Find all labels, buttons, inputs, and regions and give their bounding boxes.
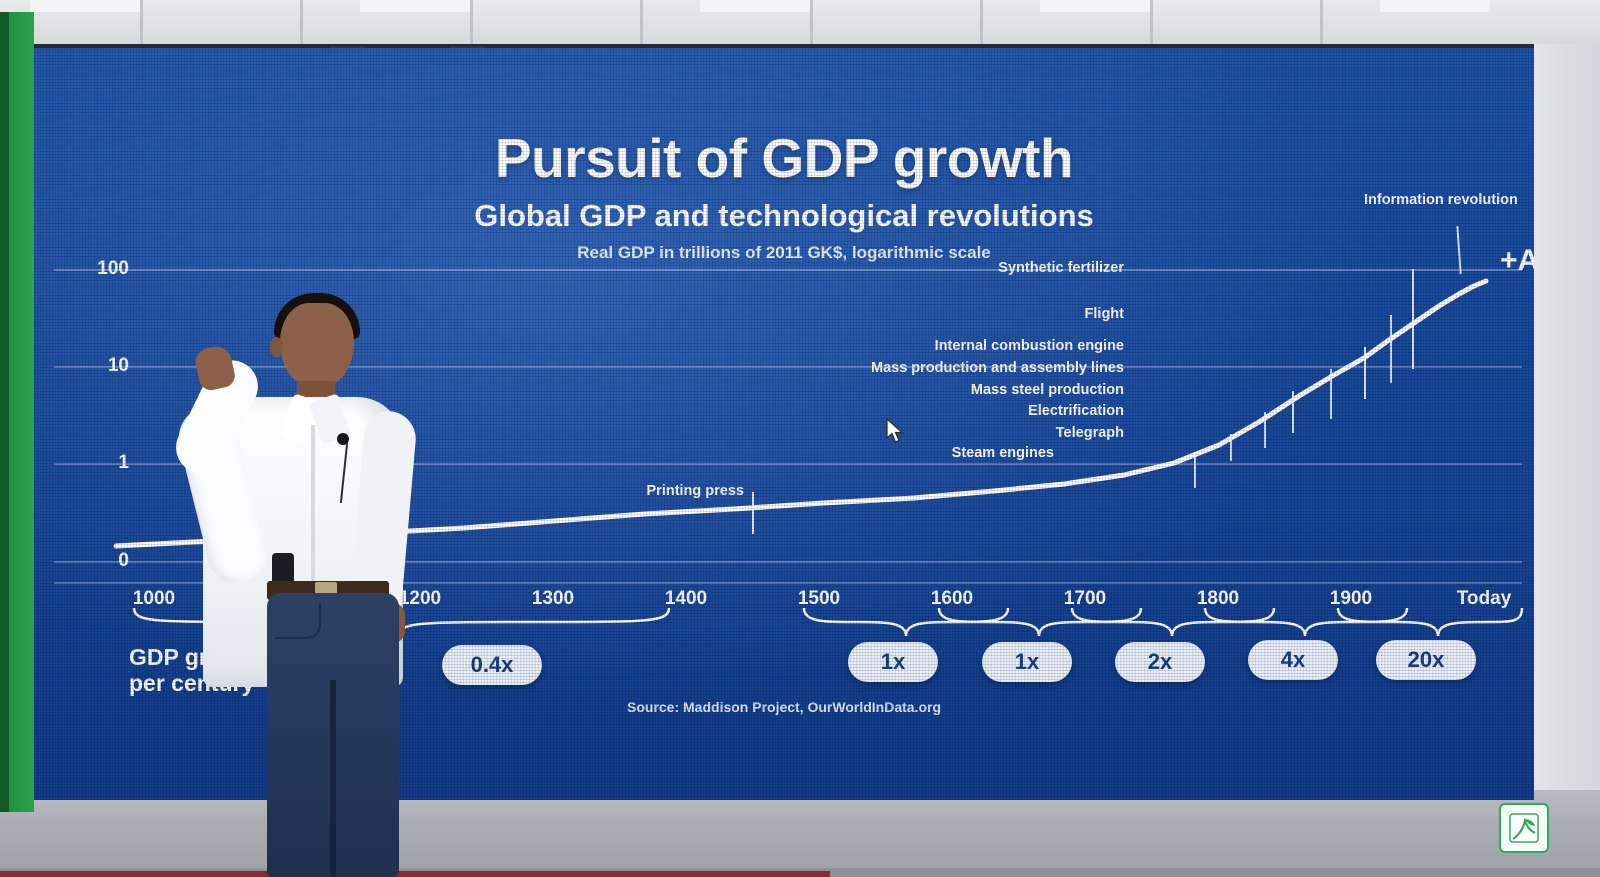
presenter-jeans-pocket [275,603,321,639]
annotation-printing-press: Printing press [564,483,744,499]
annotation-flight: Flight [984,306,1124,322]
mouse-cursor [886,418,908,444]
growth-pill-4: 4x [1248,640,1338,680]
leader-mass-production [1330,369,1332,419]
plus-ai-label: +AI [1500,244,1534,278]
leader-telegraph [1230,434,1232,461]
presenter-head [280,303,354,387]
growth-pill-1: 1x [848,642,938,682]
back-wall [1530,44,1600,804]
annotation-electrification: Electrification [934,403,1124,419]
annotation-telegraph: Telegraph [974,425,1124,441]
leader-internal-combustion [1364,347,1366,399]
presenter [175,285,440,877]
growth-pill-0: 0.4x [442,645,542,685]
annotation-steam-engines: Steam engines [894,445,1054,461]
leader-mass-steel [1292,391,1294,433]
leader-electrification [1264,412,1266,448]
leader-printing-press [752,492,754,534]
watermark-logo-icon [1499,803,1549,853]
green-wall-panel-edge [0,12,9,812]
annotation-mass-steel: Mass steel production [894,382,1124,398]
annotation-synthetic-fertilizer: Synthetic fertilizer [854,260,1124,276]
growth-pill-3: 2x [1115,642,1205,682]
growth-pill-5: 20x [1376,640,1476,680]
leader-steam-engines [1194,454,1196,488]
growth-pill-2: 1x [982,642,1072,682]
leader-synthetic-fertilizer [1412,269,1414,369]
annotation-internal-combustion: Internal combustion engine [784,338,1124,354]
presenter-jeans-inseam [330,680,336,877]
annotation-mass-production: Mass production and assembly lines [764,360,1124,376]
presenter-ear [270,337,283,357]
leader-flight [1390,315,1392,383]
stage-photo: Pursuit of GDP growth Global GDP and tec… [0,0,1600,877]
annotation-information-revolution: Information revolution [1364,193,1494,208]
